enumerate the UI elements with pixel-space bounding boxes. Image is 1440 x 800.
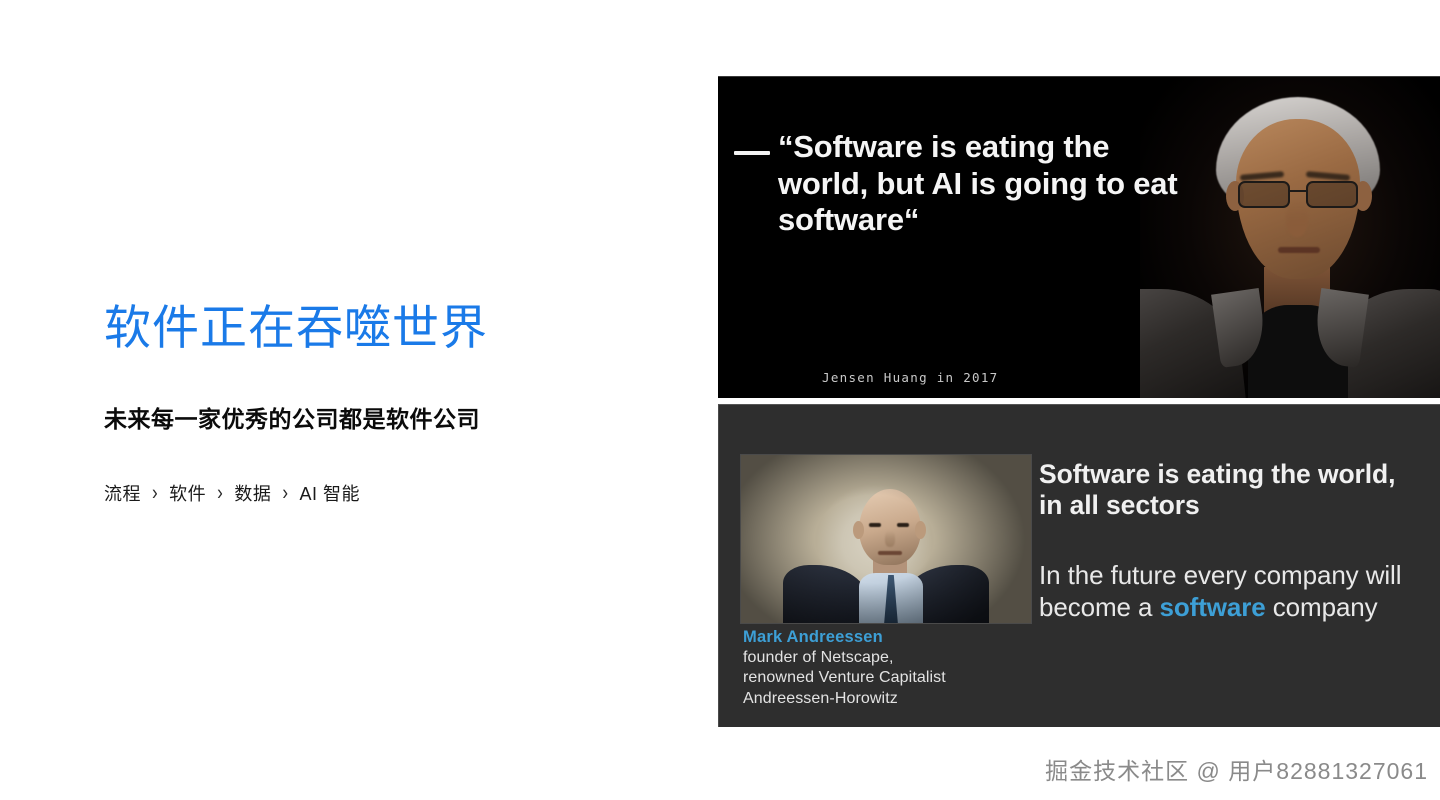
page-title: 软件正在吞噬世界 xyxy=(104,300,704,355)
breadcrumb-item-process[interactable]: 流程 xyxy=(104,480,141,506)
eyeglasses-icon xyxy=(1236,181,1362,209)
body-text-part-2: company xyxy=(1266,592,1378,622)
panel-body-text: In the future every company will become … xyxy=(1039,559,1423,623)
page-subtitle: 未来每一家优秀的公司都是软件公司 xyxy=(104,400,704,434)
text-column: 软件正在吞噬世界 未来每一家优秀的公司都是软件公司 流程 › 软件 › 数据 ›… xyxy=(104,300,704,506)
andreessen-image-panel: Mark Andreessen founder of Netscape, ren… xyxy=(718,404,1440,727)
panel-headline: Software is eating the world, in all sec… xyxy=(1039,459,1423,521)
breadcrumb-item-data[interactable]: 数据 xyxy=(234,480,271,506)
jensen-huang-portrait xyxy=(1140,77,1440,398)
chevron-right-icon: › xyxy=(217,481,223,506)
quote-text: “Software is eating the world, but AI is… xyxy=(778,129,1178,239)
em-dash-icon xyxy=(734,151,770,155)
watermark: 掘金技术社区 @ 用户82881327061 xyxy=(1045,752,1428,786)
slide-canvas: 软件正在吞噬世界 未来每一家优秀的公司都是软件公司 流程 › 软件 › 数据 ›… xyxy=(0,0,1440,800)
person-name: Mark Andreessen xyxy=(743,627,1015,648)
person-role-line-3: Andreessen-Horowitz xyxy=(743,689,1015,709)
breadcrumb-item-ai[interactable]: AI 智能 xyxy=(300,480,361,506)
quote-attribution: Jensen Huang in 2017 xyxy=(822,370,999,385)
quote-block: “Software is eating the world, but AI is… xyxy=(778,129,1178,239)
portrait-caption: Mark Andreessen founder of Netscape, ren… xyxy=(743,627,1015,709)
quote-image-panel: “Software is eating the world, but AI is… xyxy=(718,76,1440,398)
chevron-right-icon: › xyxy=(282,481,288,506)
breadcrumb-item-software[interactable]: 软件 xyxy=(169,480,206,506)
mark-andreessen-portrait xyxy=(741,455,1031,623)
person-role-line-1: founder of Netscape, xyxy=(743,648,1015,668)
chevron-right-icon: › xyxy=(152,481,158,506)
body-text-highlight: software xyxy=(1160,592,1266,622)
person-role-line-2: renowned Venture Capitalist xyxy=(743,668,1015,688)
breadcrumb: 流程 › 软件 › 数据 › AI 智能 xyxy=(104,480,704,506)
